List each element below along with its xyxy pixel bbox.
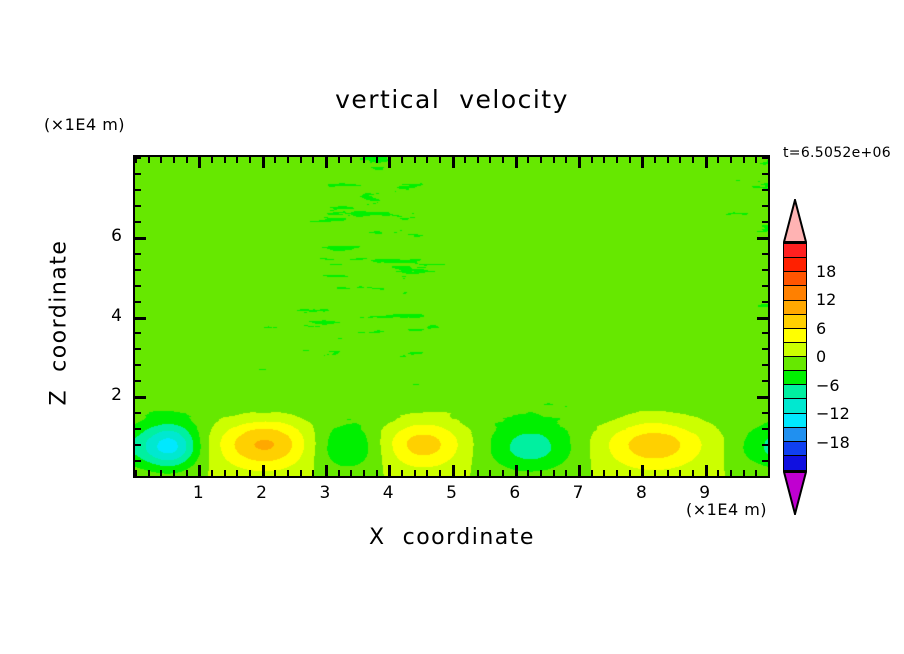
y-minor-tick-right	[762, 205, 768, 207]
x-minor-tick	[679, 470, 681, 476]
colorbar	[783, 199, 807, 515]
y-minor-tick-right	[762, 269, 768, 271]
x-minor-tick-top	[338, 157, 340, 163]
x-tick-label: 6	[500, 483, 530, 503]
x-minor-tick-top	[755, 157, 757, 163]
x-minor-tick-top	[287, 157, 289, 163]
x-minor-tick	[338, 470, 340, 476]
x-tick-label: 3	[310, 483, 340, 503]
x-minor-tick	[540, 470, 542, 476]
x-minor-tick-top	[527, 157, 529, 163]
colorbar-band	[784, 315, 806, 329]
y-major-tick-right	[757, 317, 768, 320]
x-minor-tick	[249, 470, 251, 476]
y-minor-tick-right	[762, 301, 768, 303]
x-minor-tick	[717, 470, 719, 476]
x-minor-tick	[148, 470, 150, 476]
y-minor-tick	[135, 444, 141, 446]
x-minor-tick	[414, 470, 416, 476]
x-minor-tick-top	[616, 157, 618, 163]
x-minor-tick	[616, 470, 618, 476]
x-major-tick-top	[705, 157, 708, 168]
colorbar-tick-label: 0	[816, 347, 826, 366]
colorbar-band	[784, 286, 806, 300]
y-minor-tick	[135, 157, 141, 159]
colorbar-band	[784, 343, 806, 357]
y-minor-tick-right	[762, 157, 768, 159]
x-minor-tick-top	[426, 157, 428, 163]
x-minor-tick-top	[224, 157, 226, 163]
y-minor-tick	[135, 189, 141, 191]
y-minor-tick-right	[762, 189, 768, 191]
y-major-tick	[135, 317, 146, 320]
x-minor-tick	[426, 470, 428, 476]
y-minor-tick	[135, 173, 141, 175]
x-minor-tick	[629, 470, 631, 476]
x-minor-tick-top	[667, 157, 669, 163]
y-tick-label: 4	[98, 306, 122, 326]
x-minor-tick	[755, 470, 757, 476]
x-major-tick	[641, 465, 644, 476]
x-axis-units-label: (×1E4 m)	[686, 500, 767, 519]
x-minor-tick-top	[591, 157, 593, 163]
x-tick-label: 4	[373, 483, 403, 503]
y-major-tick	[135, 396, 146, 399]
y-minor-tick	[135, 428, 141, 430]
colorbar-tick-label: 12	[816, 290, 836, 309]
x-minor-tick	[274, 470, 276, 476]
x-major-tick	[325, 465, 328, 476]
y-minor-tick-right	[762, 173, 768, 175]
x-minor-tick	[300, 470, 302, 476]
x-minor-tick-top	[489, 157, 491, 163]
x-minor-tick	[667, 470, 669, 476]
x-minor-tick-top	[160, 157, 162, 163]
x-minor-tick-top	[186, 157, 188, 163]
x-major-tick	[262, 465, 265, 476]
x-minor-tick	[553, 470, 555, 476]
colorbar-tick-label: −6	[816, 376, 840, 395]
x-tick-label: 5	[437, 483, 467, 503]
x-minor-tick-top	[439, 157, 441, 163]
x-major-tick	[515, 465, 518, 476]
y-axis-title: Z coordinate	[47, 233, 72, 413]
colorbar-band	[784, 442, 806, 456]
x-minor-tick	[464, 470, 466, 476]
x-minor-tick	[186, 470, 188, 476]
x-minor-tick-top	[553, 157, 555, 163]
x-minor-tick	[350, 470, 352, 476]
colorbar-over-arrow-icon	[783, 199, 807, 243]
figure-canvas: vertical velocity (×1E4 m) t=6.5052e+06 …	[0, 0, 904, 654]
y-minor-tick	[135, 205, 141, 207]
x-minor-tick	[224, 470, 226, 476]
colorbar-tick-label: −12	[816, 404, 850, 423]
x-minor-tick	[477, 470, 479, 476]
colorbar-band	[784, 371, 806, 385]
x-axis-title: X coordinate	[0, 525, 904, 550]
y-minor-tick	[135, 332, 141, 334]
x-major-tick-top	[641, 157, 644, 168]
y-minor-tick-right	[762, 412, 768, 414]
x-major-tick	[705, 465, 708, 476]
y-tick-label: 6	[98, 226, 122, 246]
x-minor-tick-top	[502, 157, 504, 163]
x-minor-tick	[173, 470, 175, 476]
y-minor-tick-right	[762, 380, 768, 382]
x-major-tick	[388, 465, 391, 476]
x-minor-tick	[502, 470, 504, 476]
colorbar-band	[784, 244, 806, 258]
x-minor-tick	[401, 470, 403, 476]
y-minor-tick-right	[762, 444, 768, 446]
x-minor-tick-top	[274, 157, 276, 163]
x-minor-tick	[363, 470, 365, 476]
x-minor-tick	[591, 470, 593, 476]
x-major-tick	[578, 465, 581, 476]
x-minor-tick	[211, 470, 213, 476]
x-tick-label: 8	[626, 483, 656, 503]
colorbar-tick-label: 18	[816, 262, 836, 281]
colorbar-bands	[783, 243, 807, 471]
x-minor-tick-top	[540, 157, 542, 163]
colorbar-band	[784, 357, 806, 371]
x-major-tick-top	[325, 157, 328, 168]
y-minor-tick-right	[762, 253, 768, 255]
colorbar-band	[784, 456, 806, 470]
y-minor-tick	[135, 460, 141, 462]
x-minor-tick-top	[717, 157, 719, 163]
x-minor-tick	[489, 470, 491, 476]
x-major-tick	[198, 465, 201, 476]
x-minor-tick-top	[679, 157, 681, 163]
x-minor-tick-top	[414, 157, 416, 163]
y-major-tick	[135, 237, 146, 240]
x-minor-tick-top	[312, 157, 314, 163]
plot-area	[133, 155, 770, 478]
y-minor-tick	[135, 221, 141, 223]
x-minor-tick-top	[603, 157, 605, 163]
y-tick-label: 2	[98, 385, 122, 405]
y-minor-tick	[135, 301, 141, 303]
y-minor-tick-right	[762, 460, 768, 462]
x-minor-tick	[287, 470, 289, 476]
x-minor-tick	[236, 470, 238, 476]
x-major-tick	[452, 465, 455, 476]
y-axis-units-label: (×1E4 m)	[44, 115, 125, 134]
y-minor-tick-right	[762, 476, 768, 478]
y-minor-tick	[135, 253, 141, 255]
colorbar-band	[784, 258, 806, 272]
x-major-tick-top	[388, 157, 391, 168]
x-minor-tick-top	[148, 157, 150, 163]
x-minor-tick-top	[692, 157, 694, 163]
y-minor-tick	[135, 364, 141, 366]
y-minor-tick	[135, 348, 141, 350]
x-minor-tick-top	[236, 157, 238, 163]
y-minor-tick-right	[762, 332, 768, 334]
x-minor-tick-top	[211, 157, 213, 163]
x-minor-tick-top	[300, 157, 302, 163]
x-minor-tick-top	[350, 157, 352, 163]
x-minor-tick	[603, 470, 605, 476]
x-major-tick-top	[262, 157, 265, 168]
vertical-velocity-field	[135, 157, 768, 476]
x-major-tick-top	[515, 157, 518, 168]
chart-title: vertical velocity	[0, 85, 904, 114]
x-major-tick-top	[452, 157, 455, 168]
y-minor-tick	[135, 269, 141, 271]
colorbar-band	[784, 399, 806, 413]
colorbar-tick-label: −18	[816, 433, 850, 452]
y-minor-tick	[135, 380, 141, 382]
x-minor-tick	[743, 470, 745, 476]
x-minor-tick-top	[768, 157, 770, 163]
x-minor-tick	[692, 470, 694, 476]
x-tick-label: 7	[563, 483, 593, 503]
x-minor-tick	[527, 470, 529, 476]
x-minor-tick	[160, 470, 162, 476]
y-minor-tick	[135, 412, 141, 414]
x-minor-tick	[730, 470, 732, 476]
y-major-tick-right	[757, 237, 768, 240]
y-minor-tick-right	[762, 221, 768, 223]
y-major-tick-right	[757, 396, 768, 399]
x-minor-tick-top	[654, 157, 656, 163]
x-major-tick-top	[198, 157, 201, 168]
x-minor-tick-top	[629, 157, 631, 163]
x-minor-tick	[654, 470, 656, 476]
colorbar-band	[784, 428, 806, 442]
x-minor-tick-top	[730, 157, 732, 163]
x-minor-tick	[312, 470, 314, 476]
colorbar-band	[784, 272, 806, 286]
x-minor-tick-top	[173, 157, 175, 163]
x-tick-label: 2	[247, 483, 277, 503]
x-minor-tick-top	[376, 157, 378, 163]
x-minor-tick-top	[249, 157, 251, 163]
x-major-tick-top	[578, 157, 581, 168]
y-minor-tick	[135, 476, 141, 478]
x-minor-tick-top	[363, 157, 365, 163]
colorbar-under-arrow-icon	[783, 471, 807, 515]
colorbar-band	[784, 385, 806, 399]
colorbar-tick-label: 6	[816, 319, 826, 338]
y-minor-tick	[135, 285, 141, 287]
y-minor-tick-right	[762, 428, 768, 430]
x-minor-tick	[768, 470, 770, 476]
x-minor-tick-top	[401, 157, 403, 163]
time-annotation: t=6.5052e+06	[783, 145, 891, 161]
x-tick-label: 1	[183, 483, 213, 503]
colorbar-band	[784, 329, 806, 343]
x-minor-tick	[565, 470, 567, 476]
y-minor-tick-right	[762, 364, 768, 366]
x-minor-tick-top	[464, 157, 466, 163]
x-minor-tick-top	[477, 157, 479, 163]
x-minor-tick	[439, 470, 441, 476]
x-minor-tick-top	[743, 157, 745, 163]
y-minor-tick-right	[762, 285, 768, 287]
y-minor-tick-right	[762, 348, 768, 350]
x-minor-tick-top	[565, 157, 567, 163]
colorbar-band	[784, 414, 806, 428]
x-minor-tick	[376, 470, 378, 476]
colorbar-band	[784, 301, 806, 315]
